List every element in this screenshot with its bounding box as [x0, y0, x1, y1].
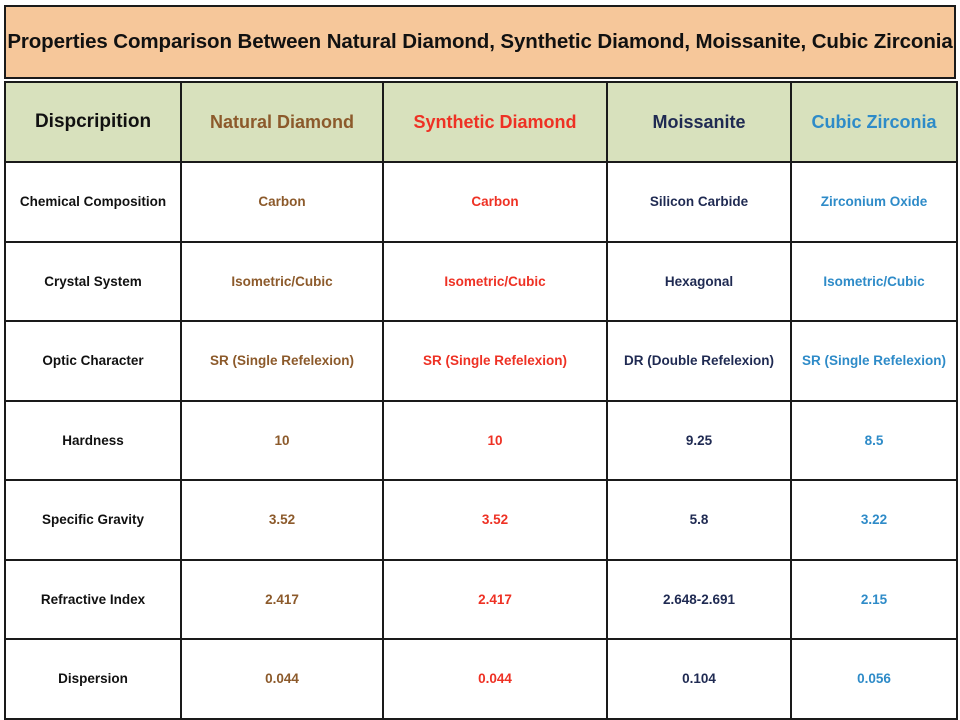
row-property-label: Specific Gravity: [5, 480, 181, 560]
cell-moissanite: 0.104: [607, 639, 791, 719]
row-property-label: Crystal System: [5, 242, 181, 322]
cell-moissanite: Hexagonal: [607, 242, 791, 322]
cell-synthetic-diamond: SR (Single Refelexion): [383, 321, 607, 401]
page-title: Properties Comparison Between Natural Di…: [7, 30, 952, 54]
cell-moissanite: 2.648-2.691: [607, 560, 791, 640]
table-row: Hardness 10 10 9.25 8.5: [5, 401, 957, 481]
cell-moissanite: DR (Double Refelexion): [607, 321, 791, 401]
cell-moissanite: Silicon Carbide: [607, 162, 791, 242]
cell-moissanite: 5.8: [607, 480, 791, 560]
table-row: Specific Gravity 3.52 3.52 5.8 3.22: [5, 480, 957, 560]
cell-synthetic-diamond: 10: [383, 401, 607, 481]
cell-natural-diamond: 3.52: [181, 480, 383, 560]
column-header-description: Dispcripition: [5, 82, 181, 162]
cell-synthetic-diamond: Carbon: [383, 162, 607, 242]
cell-cubic-zirconia: Isometric/Cubic: [791, 242, 957, 322]
row-property-label: Hardness: [5, 401, 181, 481]
cell-moissanite: 9.25: [607, 401, 791, 481]
cell-natural-diamond: 2.417: [181, 560, 383, 640]
table-header-row: Dispcripition Natural Diamond Synthetic …: [5, 82, 957, 162]
cell-synthetic-diamond: 2.417: [383, 560, 607, 640]
cell-cubic-zirconia: Zirconium Oxide: [791, 162, 957, 242]
table-row: Refractive Index 2.417 2.417 2.648-2.691…: [5, 560, 957, 640]
cell-cubic-zirconia: 2.15: [791, 560, 957, 640]
comparison-table-page: Properties Comparison Between Natural Di…: [0, 0, 960, 720]
cell-cubic-zirconia: 0.056: [791, 639, 957, 719]
row-property-label: Refractive Index: [5, 560, 181, 640]
row-property-label: Chemical Composition: [5, 162, 181, 242]
table-title-banner: Properties Comparison Between Natural Di…: [4, 5, 956, 79]
row-property-label: Dispersion: [5, 639, 181, 719]
cell-cubic-zirconia: 3.22: [791, 480, 957, 560]
table-row: Optic Character SR (Single Refelexion) S…: [5, 321, 957, 401]
table-row: Chemical Composition Carbon Carbon Silic…: [5, 162, 957, 242]
cell-synthetic-diamond: 0.044: [383, 639, 607, 719]
row-property-label: Optic Character: [5, 321, 181, 401]
cell-cubic-zirconia: 8.5: [791, 401, 957, 481]
table-row: Crystal System Isometric/Cubic Isometric…: [5, 242, 957, 322]
table-row: Dispersion 0.044 0.044 0.104 0.056: [5, 639, 957, 719]
properties-comparison-table: Dispcripition Natural Diamond Synthetic …: [4, 81, 958, 720]
column-header-natural-diamond: Natural Diamond: [181, 82, 383, 162]
column-header-moissanite: Moissanite: [607, 82, 791, 162]
cell-natural-diamond: 10: [181, 401, 383, 481]
cell-synthetic-diamond: Isometric/Cubic: [383, 242, 607, 322]
cell-natural-diamond: 0.044: [181, 639, 383, 719]
column-header-cubic-zirconia: Cubic Zirconia: [791, 82, 957, 162]
cell-synthetic-diamond: 3.52: [383, 480, 607, 560]
column-header-synthetic-diamond: Synthetic Diamond: [383, 82, 607, 162]
cell-natural-diamond: Carbon: [181, 162, 383, 242]
cell-natural-diamond: SR (Single Refelexion): [181, 321, 383, 401]
cell-cubic-zirconia: SR (Single Refelexion): [791, 321, 957, 401]
cell-natural-diamond: Isometric/Cubic: [181, 242, 383, 322]
